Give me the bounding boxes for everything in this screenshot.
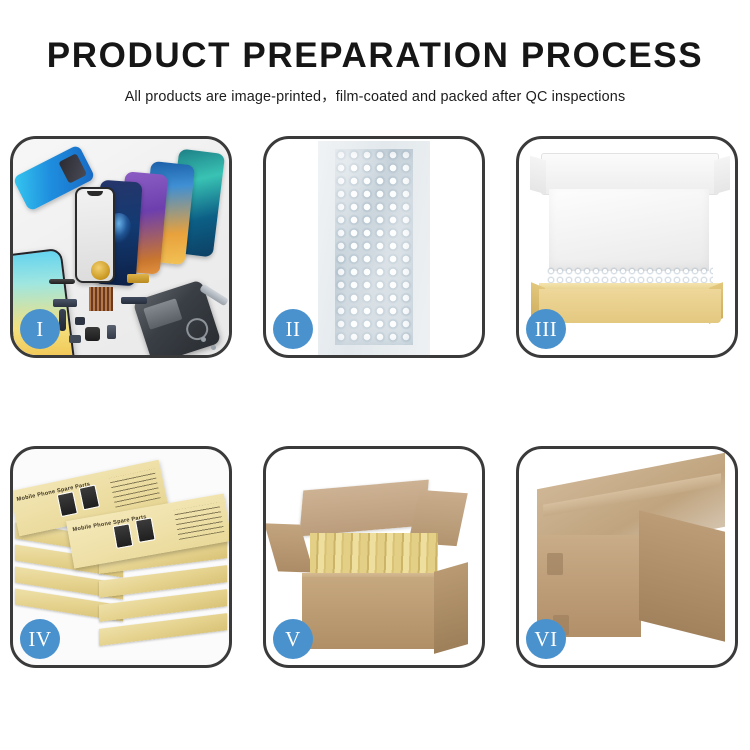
step-badge-1: I <box>20 309 60 349</box>
page-subtitle: All products are image-printed，film-coat… <box>0 85 750 106</box>
carton-front-panel <box>302 577 442 649</box>
screw-part-a <box>201 337 206 342</box>
step-badge-2: II <box>273 309 313 349</box>
carton-tab-upper <box>547 553 563 575</box>
carton-side-panel <box>434 562 468 654</box>
camera-module-part <box>85 327 100 341</box>
connector-part <box>53 299 77 307</box>
process-steps-grid: I II III <box>10 136 742 668</box>
box-spec-lines-front <box>174 502 225 540</box>
flex-cable-dark <box>121 297 147 304</box>
header: PRODUCT PREPARATION PROCESS All products… <box>0 34 750 106</box>
chip-grid-part <box>89 287 113 311</box>
copper-coil-part <box>91 261 110 280</box>
step-badge-5: V <box>273 619 313 659</box>
button-part <box>107 325 116 339</box>
process-step-5: V <box>263 446 485 668</box>
box-product-image-a1 <box>57 491 78 517</box>
step-badge-6: VI <box>526 619 566 659</box>
process-step-6: VI <box>516 446 738 668</box>
process-step-4: Mobile Phone Spare Parts Mobile Phone Sp… <box>10 446 232 668</box>
step-badge-3: III <box>526 309 566 349</box>
box-product-image-b1 <box>79 484 100 510</box>
bubble-wrap-sheen <box>335 149 413 345</box>
speaker-grille-part <box>49 279 75 284</box>
box-front-panel <box>539 289 721 323</box>
page-title: PRODUCT PREPARATION PROCESS <box>0 34 750 78</box>
foam-lining <box>549 189 709 271</box>
sealed-carton-side <box>639 510 725 641</box>
product-preparation-infographic: PRODUCT PREPARATION PROCESS All products… <box>0 0 750 750</box>
box-product-image-b2 <box>135 517 156 543</box>
screw-part-b <box>211 345 216 350</box>
carton-back-flap <box>299 480 429 537</box>
process-step-2: II <box>263 136 485 358</box>
ribbon-cable-part <box>59 309 66 331</box>
flex-cable-gold <box>127 274 149 283</box>
process-step-1: I <box>10 136 232 358</box>
box-spec-lines-back <box>109 469 160 508</box>
small-component-b <box>69 335 81 343</box>
step-badge-4: IV <box>20 619 60 659</box>
small-component-a <box>75 317 85 325</box>
box-product-image-a2 <box>113 523 134 549</box>
process-step-3: III <box>516 136 738 358</box>
